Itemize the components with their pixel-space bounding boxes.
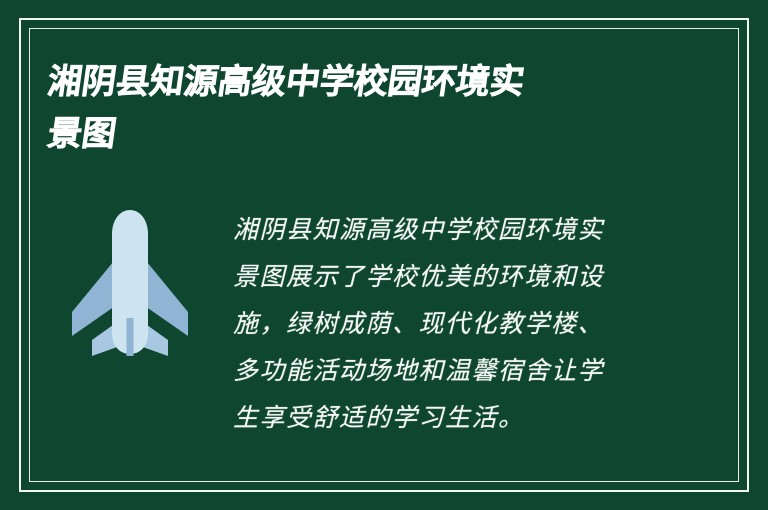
page-title: 湘阴县知源高级中学校园环境实 景图 [48,56,608,160]
body-line: 湘阴县知源高级中学校园环境实 [233,206,653,253]
body-line: 多功能活动场地和温馨宿舍让学 [233,347,653,394]
body-paragraph: 湘阴县知源高级中学校园环境实 景图展示了学校优美的环境和设 施，绿树成荫、现代化… [233,206,653,441]
airplane-icon [62,208,198,356]
poster-canvas: 湘阴县知源高级中学校园环境实 景图 湘阴县知源高级中学校园环境实 景图展示了 [0,0,768,510]
content-row: 湘阴县知源高级中学校园环境实 景图展示了学校优美的环境和设 施，绿树成荫、现代化… [0,196,768,466]
title-line-2: 景图 [44,108,611,160]
title-line-1: 湘阴县知源高级中学校园环境实 [44,56,611,108]
body-line: 景图展示了学校优美的环境和设 [233,253,653,300]
body-line: 生享受舒适的学习生活。 [233,394,653,441]
body-line: 施，绿树成荫、现代化教学楼、 [233,300,653,347]
